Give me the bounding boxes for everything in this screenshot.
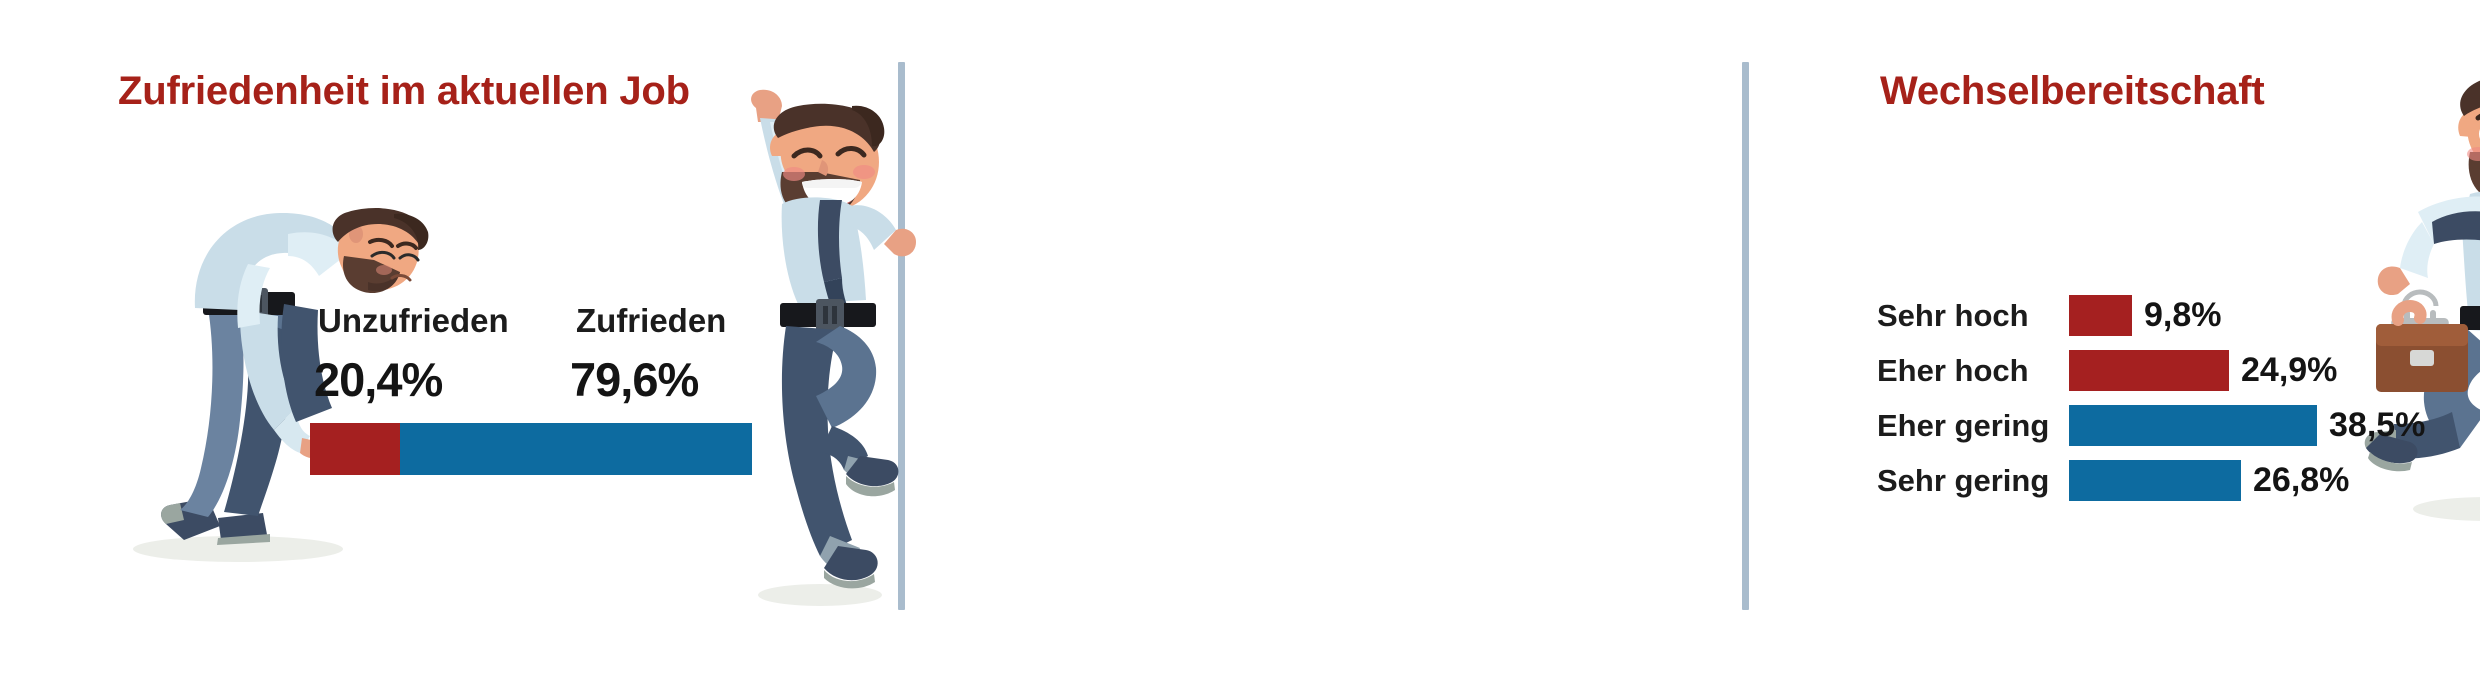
panel-arbeitsvolumen: Bevorzugtes Arbeitsvolumen pro Woche 33,… — [1749, 0, 2480, 678]
infographic-canvas: Zufriedenheit im aktuellen Job — [0, 0, 2480, 678]
panel-zufriedenheit: Zufriedenheit im aktuellen Job — [0, 0, 898, 678]
panel-divider-2 — [1742, 62, 1749, 610]
value-zufrieden: 79,6% — [570, 352, 698, 407]
label-zufrieden: Zufrieden — [576, 302, 726, 340]
satisfaction-stacked-bar — [310, 423, 752, 475]
bar-segment-unzufrieden — [310, 423, 400, 475]
panel-wechselbereitschaft: Wechselbereitschaft — [905, 0, 1742, 678]
p1-label-group: Unzufrieden Zufrieden 20,4% 79,6% — [318, 302, 748, 414]
happy-jumping-man-illustration — [720, 78, 920, 618]
value-unzufrieden: 20,4% — [314, 352, 442, 407]
label-unzufrieden: Unzufrieden — [318, 302, 509, 340]
panel-title-zufriedenheit: Zufriedenheit im aktuellen Job — [118, 68, 690, 115]
bar-segment-zufrieden — [400, 423, 752, 475]
